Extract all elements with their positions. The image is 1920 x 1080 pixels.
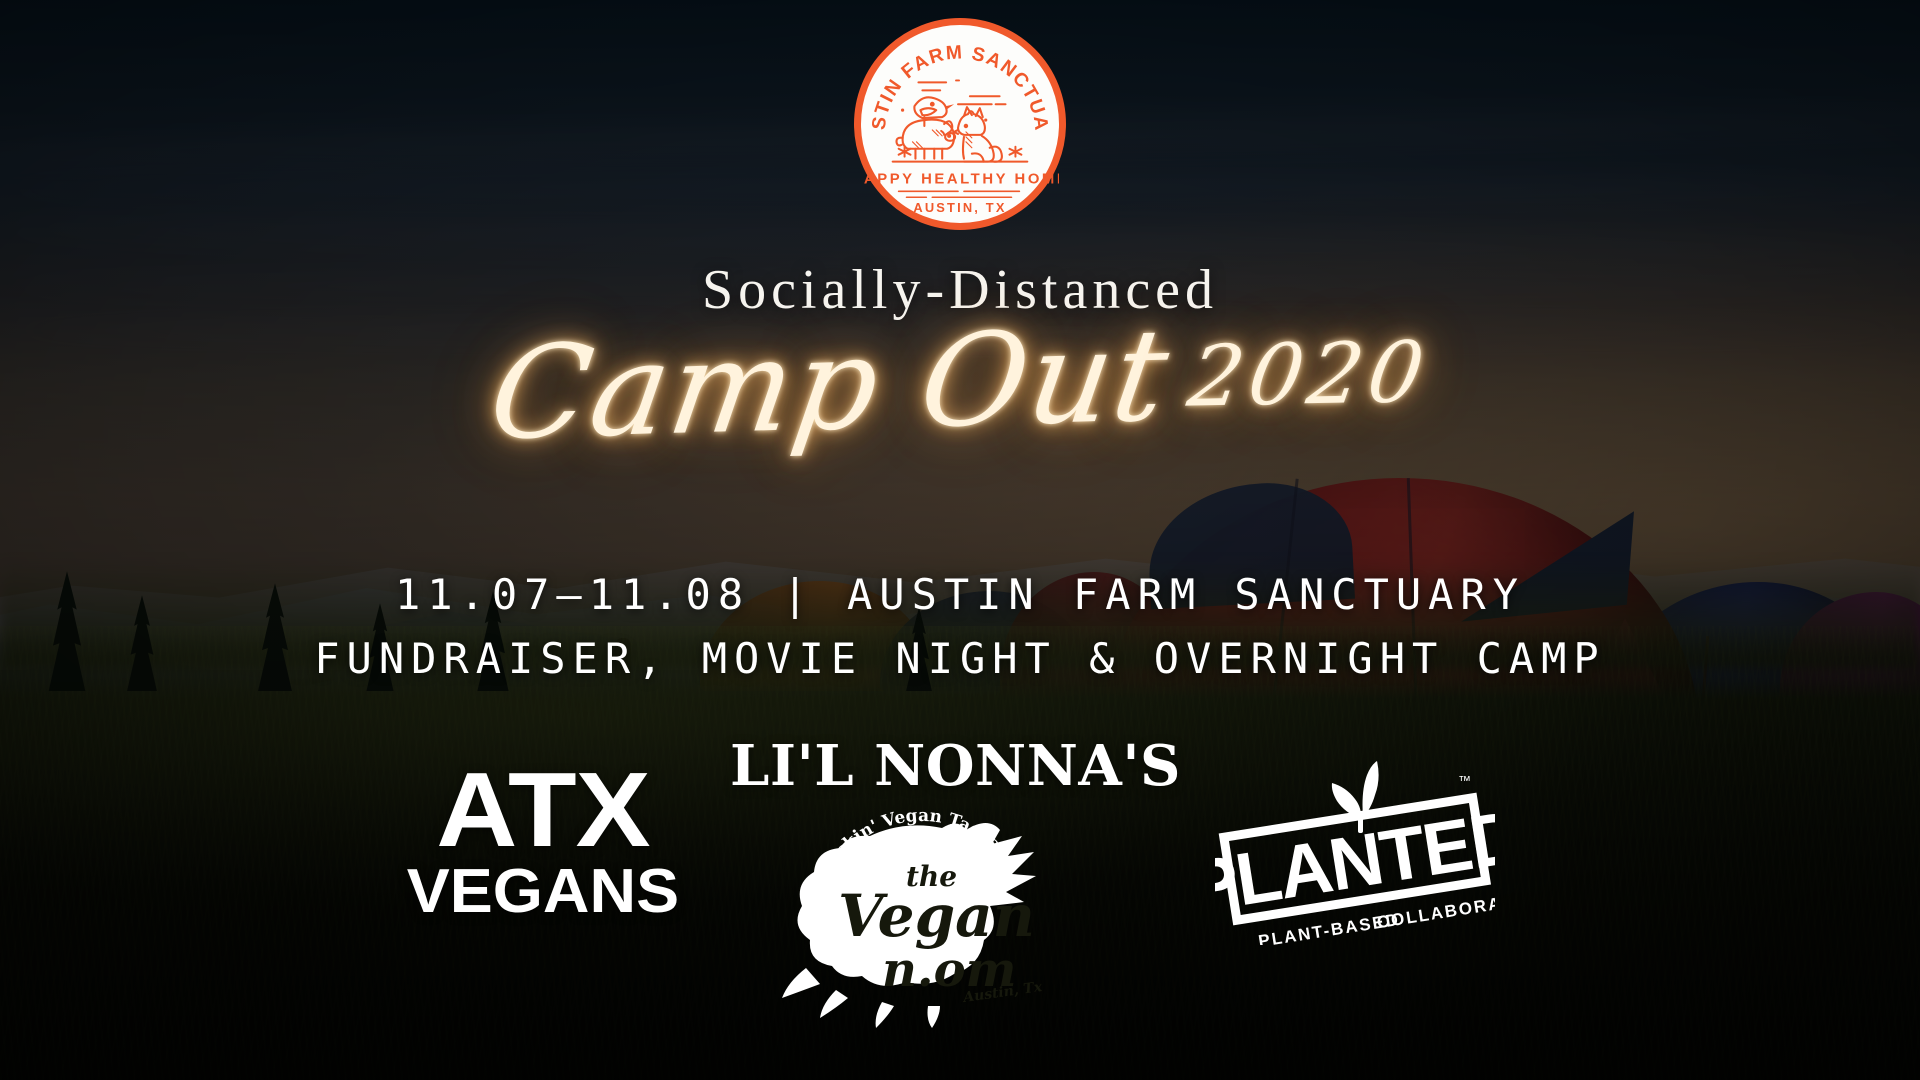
austin-farm-sanctuary-logo: AUSTIN FARM SANCTUARY: [854, 18, 1066, 230]
script-main-text: Camp Out: [480, 301, 1178, 469]
nom-word-vegan: Vegan: [838, 882, 1035, 950]
logo-location: AUSTIN, TX: [913, 200, 1006, 215]
event-poster: TOREAD AUSTIN FARM SANCTUARY: [0, 0, 1920, 1080]
svg-text:AUSTIN FARM SANCTUARY: AUSTIN FARM SANCTUARY: [861, 25, 1051, 133]
logo-arc-text: AUSTIN FARM SANCTUARY: [861, 25, 1051, 133]
sponsor-planted: ™ PLANTED PLANT-BASED COLLABORATIONS: [1215, 755, 1495, 945]
sponsor-lil-nonnas: LI'L NONNA'S: [730, 733, 1181, 799]
atx-line-1: ATX: [404, 763, 682, 858]
script-year-text: 2020: [1183, 330, 1435, 419]
logo-tagline: HAPPY HEALTHY HOME: [861, 171, 1059, 187]
sponsor-the-vegan-nom: Rockin' Vegan Tacos the Vegan n.om Austi…: [778, 800, 1078, 1030]
planted-trademark: ™: [1458, 773, 1471, 788]
sponsor-atx-vegans: ATX VEGANS: [412, 763, 674, 920]
script-camp-out: Camp Out2020: [482, 305, 1438, 459]
event-description-line: FUNDRAISER, MOVIE NIGHT & OVERNIGHT CAMP: [0, 634, 1920, 683]
sponsor-logo-row: ATX VEGANS LI'L NONNA'S: [0, 745, 1920, 1075]
atx-line-2: VEGANS: [407, 864, 679, 920]
script-title-wrap: Camp Out2020: [0, 318, 1920, 446]
poster-content: AUSTIN FARM SANCTUARY: [0, 0, 1920, 1080]
event-date-venue-line: 11.07–11.08 | AUSTIN FARM SANCTUARY: [0, 570, 1920, 619]
